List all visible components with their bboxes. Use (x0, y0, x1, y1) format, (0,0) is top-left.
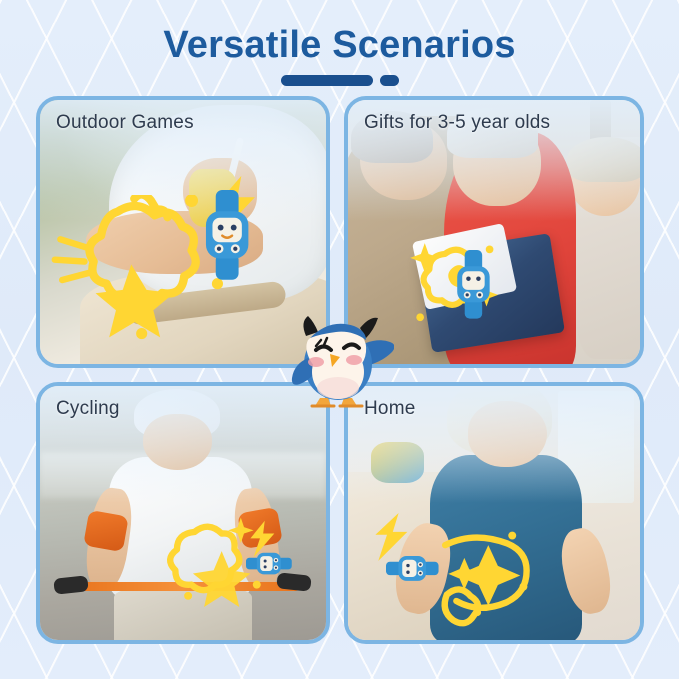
toy-watch-device (200, 190, 254, 280)
outdoor-scene (40, 100, 326, 364)
poster-canvas: Versatile Scenarios (0, 0, 679, 679)
handlebar-grip-left (54, 575, 90, 594)
shelf-toy (371, 442, 424, 483)
home-photo (348, 386, 640, 640)
owl-belly-blush (317, 377, 359, 399)
cycling-scene (40, 386, 326, 640)
owl-cheek-left (308, 357, 324, 367)
girl-hair (567, 137, 640, 182)
outdoor-photo (40, 100, 326, 364)
elbow-pad-left (83, 510, 129, 552)
owl-mascot (286, 306, 394, 410)
scenario-card-home[interactable]: Home (344, 382, 644, 644)
scenario-card-cycling[interactable]: Cycling (36, 382, 330, 644)
toy-watch-device (386, 543, 439, 594)
boy-shorts (114, 589, 251, 640)
card-label-cycling: Cycling (56, 398, 120, 420)
home-scene (348, 386, 640, 640)
toddler-shirt (430, 455, 582, 640)
cycling-photo (40, 386, 326, 640)
toy-watch-device (453, 250, 494, 319)
boy-face (143, 414, 212, 470)
card-label-outdoor: Outdoor Games (56, 112, 194, 134)
card-label-gifts: Gifts for 3-5 year olds (364, 112, 550, 134)
toddler-face (468, 401, 547, 467)
toy-watch-device (246, 528, 292, 599)
owl-cheek-right (346, 355, 362, 365)
